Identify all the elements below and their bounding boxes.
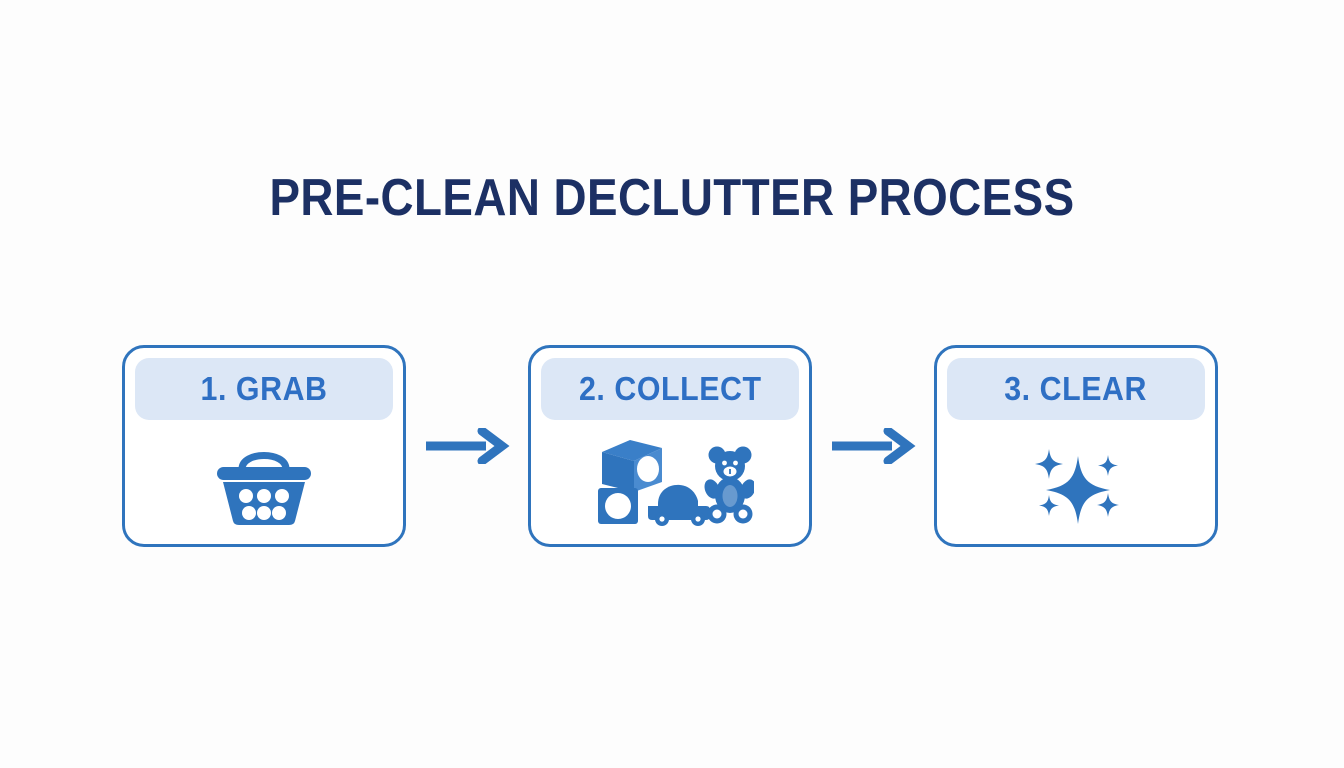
- step-label-2: 2. COLLECT: [579, 370, 762, 408]
- step-icon-slot-3: [937, 420, 1215, 544]
- process-flow: 1. GRAB: [122, 345, 1218, 547]
- toys-blocks-car-teddy-bear-icon: [586, 438, 754, 526]
- step-header-band-2: 2. COLLECT: [541, 358, 799, 420]
- shopping-basket-icon: [212, 439, 316, 525]
- infographic-canvas: PRE-CLEAN DECLUTTER PROCESS 1. GRAB: [0, 0, 1344, 768]
- step-label-3: 3. CLEAR: [1005, 370, 1148, 408]
- step-label-1: 1. GRAB: [200, 370, 327, 408]
- step-card-grab[interactable]: 1. GRAB: [122, 345, 406, 547]
- page-title: PRE-CLEAN DECLUTTER PROCESS: [81, 168, 1264, 228]
- step-icon-slot-1: [125, 420, 403, 544]
- arrow-right-icon: [830, 428, 916, 464]
- step-header-band-1: 1. GRAB: [135, 358, 393, 420]
- step-header-band-3: 3. CLEAR: [947, 358, 1205, 420]
- step-card-collect[interactable]: 2. COLLECT: [528, 345, 812, 547]
- step-card-clear[interactable]: 3. CLEAR: [934, 345, 1218, 547]
- arrow-right-icon: [424, 428, 510, 464]
- connector-arrow-1: [424, 426, 510, 466]
- step-icon-slot-2: [531, 420, 809, 544]
- sparkles-icon: [1024, 438, 1128, 526]
- connector-arrow-2: [830, 426, 916, 466]
